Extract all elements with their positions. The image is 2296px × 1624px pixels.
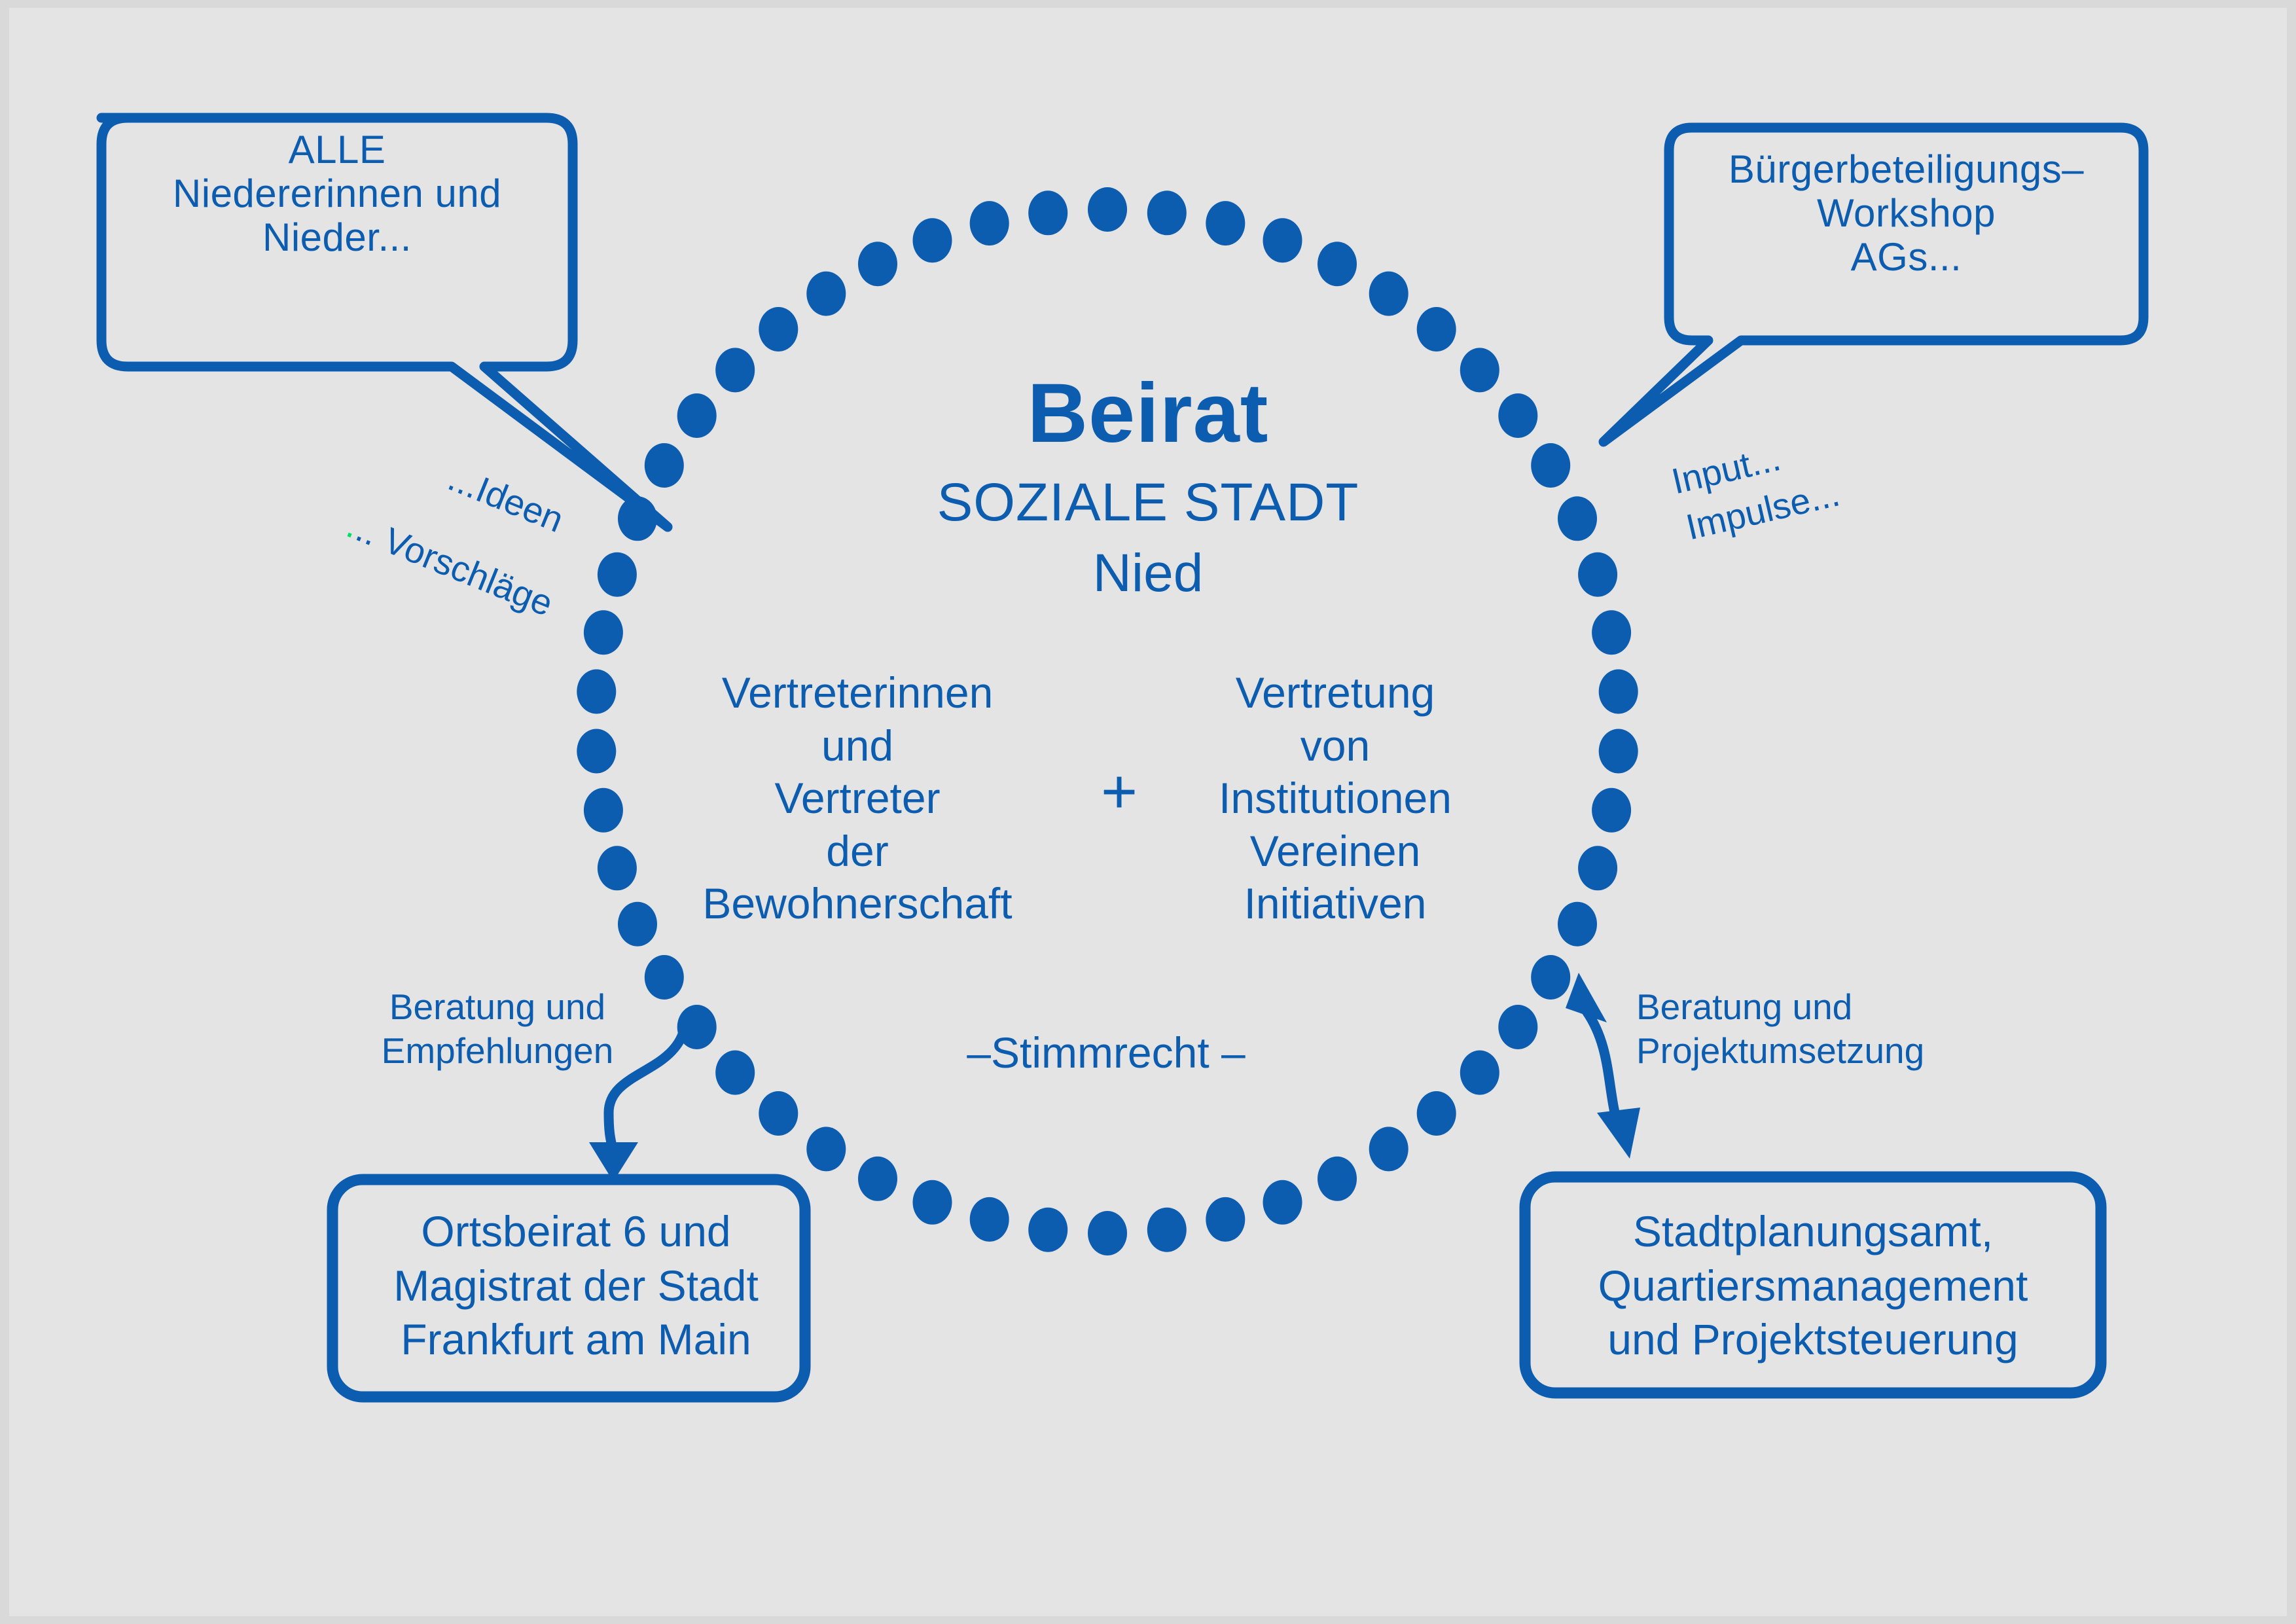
circle-dot [1318,1157,1357,1201]
circle-dot [913,218,952,262]
circle-dot [1147,190,1187,235]
bubble-label-top-left: ALLE Niedererinnen und Nieder... [101,128,573,260]
arrowhead-up-right [1566,973,1607,1022]
circle-dot [1206,1197,1245,1242]
circle-dot [759,307,798,352]
circle-dot [1088,187,1127,232]
circle-dot [759,1091,798,1136]
circle-dot [913,1180,952,1225]
circle-dot [584,610,623,655]
page-subtitle: SOZIALE STADT [0,473,2296,533]
circle-dot [970,201,1009,245]
circle-dot [1263,1180,1302,1225]
circle-dot [1592,610,1631,655]
circle-dot [806,272,846,316]
circle-dot [584,788,623,833]
circle-dot [1417,1091,1456,1136]
circle-dot [1460,1051,1499,1095]
circle-dot [970,1197,1009,1242]
diagram-canvas: ALLE Niedererinnen und Nieder... Bürgerb… [0,0,2296,1624]
circle-dot [715,1051,755,1095]
circle-dot [1558,902,1597,947]
members-residents-column: Vertreterinnen und Vertreter der Bewohne… [694,666,1021,930]
circle-dot [1147,1208,1187,1252]
box-label-ortsbeirat: Ortsbeirat 6 und Magistrat der Stadt Fra… [340,1204,812,1367]
circle-dot [1318,242,1357,286]
circle-dot [1599,670,1638,714]
circle-dot [1263,218,1302,262]
circle-dot [1531,955,1570,1000]
bubble-label-top-right: Bürgerbeteiligungs– Workshop AGs... [1669,147,2144,280]
circle-dot [618,902,657,947]
plus-icon: + [1067,761,1172,823]
circle-dot [577,729,616,774]
circle-dot [598,846,637,890]
circle-dot [806,1127,846,1171]
district-label: Nied [0,543,2296,604]
arrowhead-down-right [1597,1108,1640,1159]
page-title: Beirat [0,367,2296,460]
circle-dot [1369,272,1408,316]
circle-dot [1369,1127,1408,1171]
circle-dot [858,1157,897,1201]
label-beratung-empfehlungen: Beratung und Empfehlungen [367,985,628,1073]
arrow-beratung-projektumsetzung [1566,973,1640,1159]
circle-dot [1088,1211,1127,1255]
circle-dot [1592,788,1631,833]
circle-dot [577,670,616,714]
circle-dot [858,242,897,286]
circle-dot [1028,1208,1067,1252]
members-institutions-column: Vertretung von Institutionen Vereinen In… [1191,666,1479,930]
label-beratung-projektumsetzung: Beratung und Projektumsetzung [1636,985,1944,1073]
circle-dot [1417,307,1456,352]
circle-dot [1578,846,1617,890]
box-label-stadtplanungsamt: Stadtplanungsamt, Quartiersmanagement un… [1532,1204,2094,1367]
circle-dot [645,955,684,1000]
circle-dot [1599,729,1638,774]
circle-dot [1028,190,1067,235]
voting-rights-note: –Stimmrecht – [812,1028,1401,1077]
circle-dot [1498,1005,1537,1049]
circle-dot [1206,201,1245,245]
